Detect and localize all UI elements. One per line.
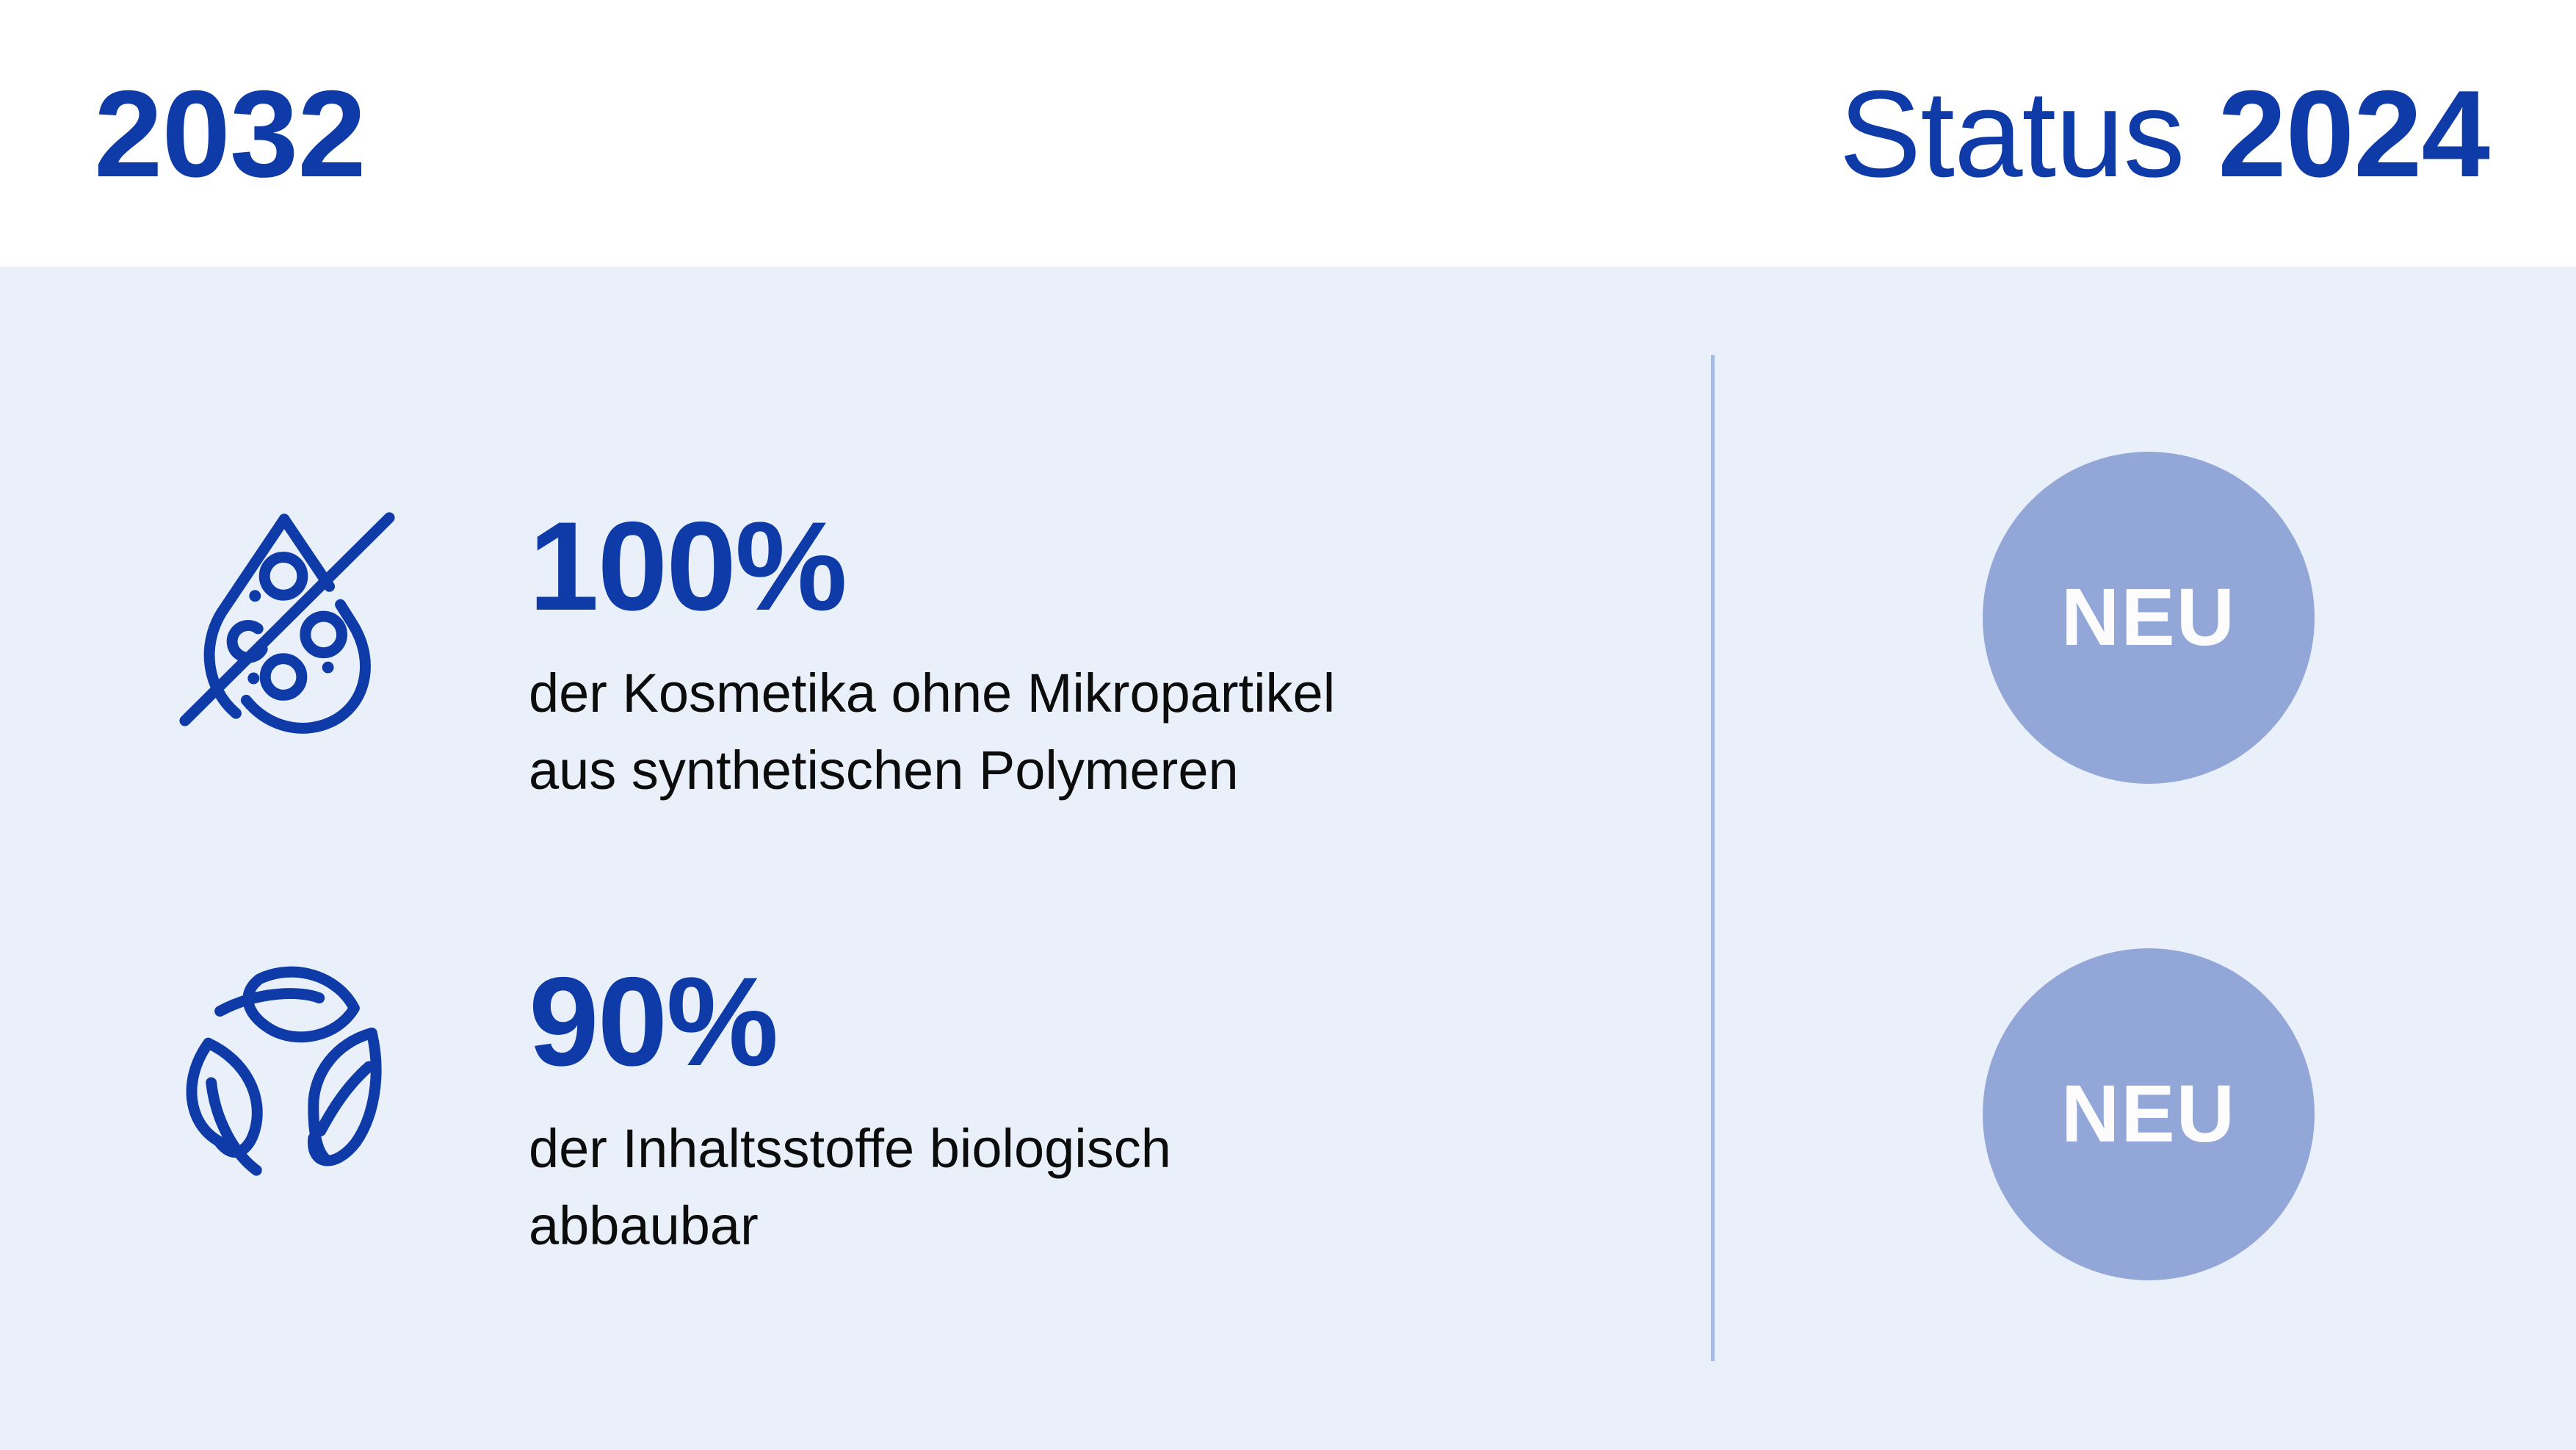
stats-panel: 100% der Kosmetika ohne Mikropartikel au…	[0, 267, 2576, 1450]
three-leaves-biodegradable-icon	[170, 959, 404, 1192]
infographic-page: 2032 Status 2024	[0, 0, 2576, 1450]
status-badge-label: NEU	[2061, 577, 2236, 658]
stat-row: 100% der Kosmetika ohne Mikropartikel au…	[170, 503, 1335, 809]
status-label: Status	[1839, 65, 2184, 203]
status-heading: Status 2024	[1839, 72, 2489, 195]
stat-description: der Kosmetika ohne Mikropartikel aus syn…	[529, 654, 1335, 809]
status-badge-label: NEU	[2061, 1074, 2236, 1155]
stat-row: 90% der Inhaltsstoffe biologisch abbauba…	[170, 959, 1171, 1264]
stat-value: 100%	[529, 503, 1335, 630]
stat-content: 90% der Inhaltsstoffe biologisch abbauba…	[529, 959, 1171, 1264]
stat-content: 100% der Kosmetika ohne Mikropartikel au…	[529, 503, 1335, 809]
status-badge: NEU	[1983, 452, 2315, 784]
stat-value: 90%	[529, 959, 1171, 1085]
vertical-divider	[1711, 355, 1715, 1361]
status-badge: NEU	[1983, 948, 2315, 1280]
target-year-heading: 2032	[94, 72, 366, 195]
stat-description: der Inhaltsstoffe biologisch abbaubar	[529, 1110, 1171, 1264]
status-year: 2024	[2218, 65, 2489, 203]
header-bar: 2032 Status 2024	[0, 0, 2576, 267]
water-droplet-no-microparticles-icon	[170, 503, 404, 737]
